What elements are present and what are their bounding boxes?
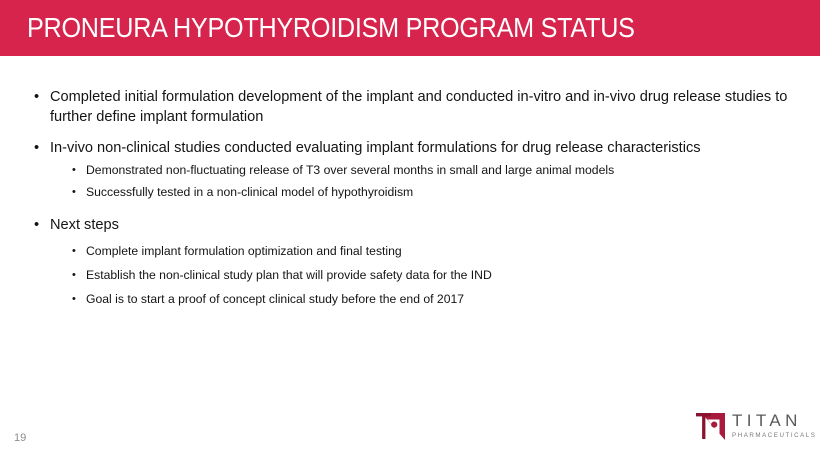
bullet-text: Successfully tested in a non-clinical mo… xyxy=(86,185,413,199)
bullet-marker-icon: • xyxy=(34,215,39,235)
bullet-marker-icon: • xyxy=(72,267,76,284)
bullet-item-level2: • Establish the non-clinical study plan … xyxy=(66,267,786,284)
bullet-marker-icon: • xyxy=(34,138,39,158)
logo-tagline: PHARMACEUTICALS xyxy=(732,431,816,440)
bullet-text: Goal is to start a proof of concept clin… xyxy=(86,292,464,306)
bullet-item-level2: • Complete implant formulation optimizat… xyxy=(66,243,786,260)
bullet-item-level2: • Successfully tested in a non-clinical … xyxy=(66,184,786,201)
bullet-item-level2: • Goal is to start a proof of concept cl… xyxy=(66,291,786,308)
page-number: 19 xyxy=(14,432,26,444)
titan-triangle-t-mark-icon xyxy=(694,409,728,443)
bullet-text: Establish the non-clinical study plan th… xyxy=(86,268,492,282)
bullet-text: Next steps xyxy=(50,217,119,233)
bullet-text: Completed initial formulation developmen… xyxy=(50,89,787,125)
logo-company-name: TITAN xyxy=(732,412,816,430)
bullet-item-level1: • In-vivo non-clinical studies conducted… xyxy=(28,138,818,158)
bullet-text: Complete implant formulation optimizatio… xyxy=(86,244,402,258)
bullet-marker-icon: • xyxy=(72,162,76,179)
page-title: PRONEURA HYPOTHYROIDISM PROGRAM STATUS xyxy=(27,13,635,43)
bullet-item-level1: • Completed initial formulation developm… xyxy=(28,87,818,127)
bullet-text: In-vivo non-clinical studies conducted e… xyxy=(50,140,701,156)
bullet-marker-icon: • xyxy=(72,184,76,201)
bullet-marker-icon: • xyxy=(34,87,39,107)
bullet-item-level1: • Next steps xyxy=(28,215,450,235)
bullet-text: Demonstrated non-fluctuating release of … xyxy=(86,163,614,177)
bullet-marker-icon: • xyxy=(72,291,76,308)
company-logo: TITAN PHARMACEUTICALS xyxy=(694,407,812,447)
bullet-item-level2: • Demonstrated non-fluctuating release o… xyxy=(66,162,786,179)
slide-body: • Completed initial formulation developm… xyxy=(0,56,820,461)
logo-wordmark-group: TITAN PHARMACEUTICALS xyxy=(732,412,816,440)
bullet-marker-icon: • xyxy=(72,243,76,260)
